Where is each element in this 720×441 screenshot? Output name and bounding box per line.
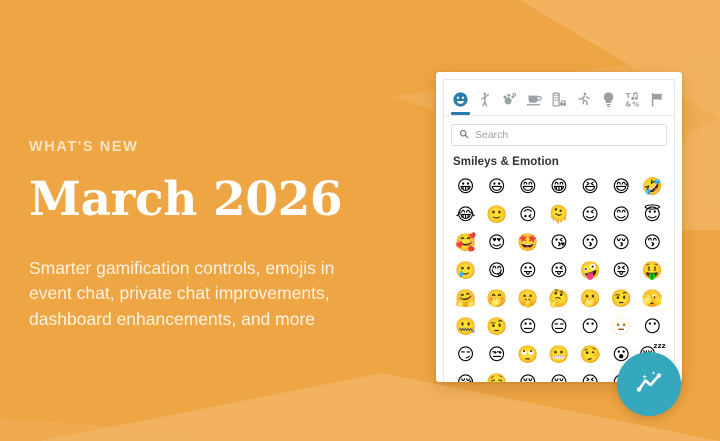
emoji-cell[interactable]: 🫥	[606, 313, 637, 341]
emoji-cell[interactable]: 🤨	[606, 285, 637, 313]
emoji-cell[interactable]: 😌	[512, 369, 543, 382]
emoji-row: 🥲😋😛😜🤪😝🤑	[450, 257, 668, 285]
emoji-row: 😂🙂🙃🫠😉😊😇	[450, 201, 668, 229]
hero-subcopy: Smarter gamification controls, emojis in…	[29, 256, 379, 332]
search-input[interactable]	[475, 129, 659, 141]
emoji-cell[interactable]: 😂	[450, 201, 481, 229]
emoji-cell[interactable]: 🫠	[543, 201, 574, 229]
emoji-row: 🤗🤭🤫🤔🫢🤨🫣	[450, 285, 668, 313]
emoji-search-wrap	[444, 116, 674, 151]
svg-text:%: %	[632, 100, 639, 108]
hero-copy: WHAT'S NEW March 2026 Smarter gamificati…	[29, 140, 409, 332]
emoji-cell[interactable]: 🤪	[575, 257, 606, 285]
emoji-cell[interactable]: 🫣	[637, 285, 668, 313]
emoji-cell[interactable]: 😚	[606, 229, 637, 257]
emoji-cell[interactable]: 🙃	[512, 201, 543, 229]
emoji-cell[interactable]: 😐	[512, 313, 543, 341]
emoji-cell[interactable]: 😀	[450, 173, 481, 201]
emoji-cell[interactable]: 😏	[450, 341, 481, 369]
tab-nature[interactable]	[497, 81, 522, 115]
flag-icon	[649, 91, 666, 108]
tab-smileys[interactable]	[448, 81, 473, 115]
emoji-cell[interactable]: 🙄	[512, 341, 543, 369]
tab-indicator	[476, 112, 495, 115]
emoji-cell[interactable]: 😑	[543, 313, 574, 341]
car-building-icon	[551, 91, 568, 108]
emoji-cell[interactable]: 🤐	[450, 313, 481, 341]
emoji-row: 😀😃😄😁😆😅🤣	[450, 173, 668, 201]
shape-bottom-left-wedge	[0, 418, 300, 441]
emoji-search-box[interactable]	[451, 124, 667, 146]
tab-indicator	[500, 112, 519, 115]
emoji-cell[interactable]: 🤑	[637, 257, 668, 285]
emoji-cell[interactable]: 😝	[606, 257, 637, 285]
emoji-cell[interactable]: 🤥	[575, 341, 606, 369]
emoji-cell[interactable]: 🫢	[575, 285, 606, 313]
emoji-cell[interactable]: 😆	[575, 173, 606, 201]
emoji-cell[interactable]: 😄	[512, 173, 543, 201]
tab-symbols[interactable]: T & %	[621, 81, 646, 115]
emoji-cell[interactable]: 😉	[575, 201, 606, 229]
emoji-picker-panel[interactable]: T & %	[436, 72, 682, 382]
cup-saucer-icon	[526, 91, 543, 108]
tab-indicator	[648, 112, 667, 115]
page-title: March 2026	[29, 175, 409, 224]
trend-chart-sparkle-icon	[632, 365, 666, 404]
smiley-face-icon	[452, 91, 469, 108]
emoji-row: 🥰😍🤩😘😗😚😙	[450, 229, 668, 257]
tab-flags[interactable]	[645, 81, 670, 115]
emoji-cell[interactable]: 😃	[481, 173, 512, 201]
svg-text:&: &	[625, 101, 631, 108]
emoji-cell[interactable]: 😗	[575, 229, 606, 257]
emoji-cell[interactable]: 😪	[450, 369, 481, 382]
emoji-cell[interactable]: 🤩	[512, 229, 543, 257]
emoji-cell[interactable]: 😒	[481, 341, 512, 369]
emoji-cell[interactable]: 😘	[543, 229, 574, 257]
emoji-cell[interactable]: 😙	[637, 229, 668, 257]
hero-eyebrow: WHAT'S NEW	[29, 140, 409, 155]
tab-indicator	[599, 112, 618, 115]
emoji-cell[interactable]: 😊	[606, 201, 637, 229]
tab-active-indicator	[451, 112, 470, 115]
svg-text:T: T	[625, 91, 630, 100]
emoji-cell[interactable]: 😍	[481, 229, 512, 257]
emoji-cell[interactable]: 😅	[606, 173, 637, 201]
tab-objects[interactable]	[596, 81, 621, 115]
emoji-cell[interactable]: 😛	[512, 257, 543, 285]
emoji-cell[interactable]: 😔	[543, 369, 574, 382]
emoji-cell[interactable]: 🤔	[543, 285, 574, 313]
emoji-cell[interactable]: 😜	[543, 257, 574, 285]
search-icon	[459, 126, 469, 144]
emoji-cell[interactable]: 😶	[575, 313, 606, 341]
emoji-cell[interactable]: 🤤	[481, 369, 512, 382]
emoji-cell[interactable]: 🤫	[512, 285, 543, 313]
person-waving-icon	[477, 91, 494, 108]
emoji-cell[interactable]: 🤣	[637, 173, 668, 201]
emoji-row: 🤐🤨😐😑😶🫥😶	[450, 313, 668, 341]
tab-travel[interactable]	[547, 81, 572, 115]
emoji-picker-inner: T & %	[443, 79, 675, 382]
emoji-cell[interactable]: 🤗	[450, 285, 481, 313]
emoji-section-title: Smileys & Emotion	[444, 151, 674, 173]
tab-activity[interactable]	[571, 81, 596, 115]
emoji-cell[interactable]: 😶	[637, 313, 668, 341]
emoji-category-tabs: T & %	[444, 80, 674, 116]
emoji-cell[interactable]: 😁	[543, 173, 574, 201]
running-person-icon	[575, 91, 592, 108]
emoji-cell[interactable]: 🤨	[481, 313, 512, 341]
emoji-cell[interactable]: 😬	[543, 341, 574, 369]
tab-food[interactable]	[522, 81, 547, 115]
emoji-grid[interactable]: 😀😃😄😁😆😅🤣😂🙂🙃🫠😉😊😇🥰😍🤩😘😗😚😙🥲😋😛😜🤪😝🤑🤗🤭🤫🤔🫢🤨🫣🤐🤨😐😑😶…	[444, 173, 674, 382]
emoji-cell[interactable]: 🙂	[481, 201, 512, 229]
tab-indicator	[550, 112, 569, 115]
lightbulb-icon	[600, 91, 617, 108]
emoji-cell[interactable]: 😇	[637, 201, 668, 229]
emoji-cell[interactable]: 😫	[575, 369, 606, 382]
emoji-cell[interactable]: 🤭	[481, 285, 512, 313]
tab-indicator	[525, 112, 544, 115]
emoji-cell[interactable]: 🥲	[450, 257, 481, 285]
paw-leaf-icon	[501, 91, 518, 108]
emoji-cell[interactable]: 😋	[481, 257, 512, 285]
tab-people[interactable]	[473, 81, 498, 115]
tab-indicator	[574, 112, 593, 115]
tab-indicator	[624, 112, 643, 115]
symbols-icon: T & %	[625, 91, 642, 108]
analytics-fab-button[interactable]	[617, 352, 681, 416]
emoji-cell[interactable]: 🥰	[450, 229, 481, 257]
